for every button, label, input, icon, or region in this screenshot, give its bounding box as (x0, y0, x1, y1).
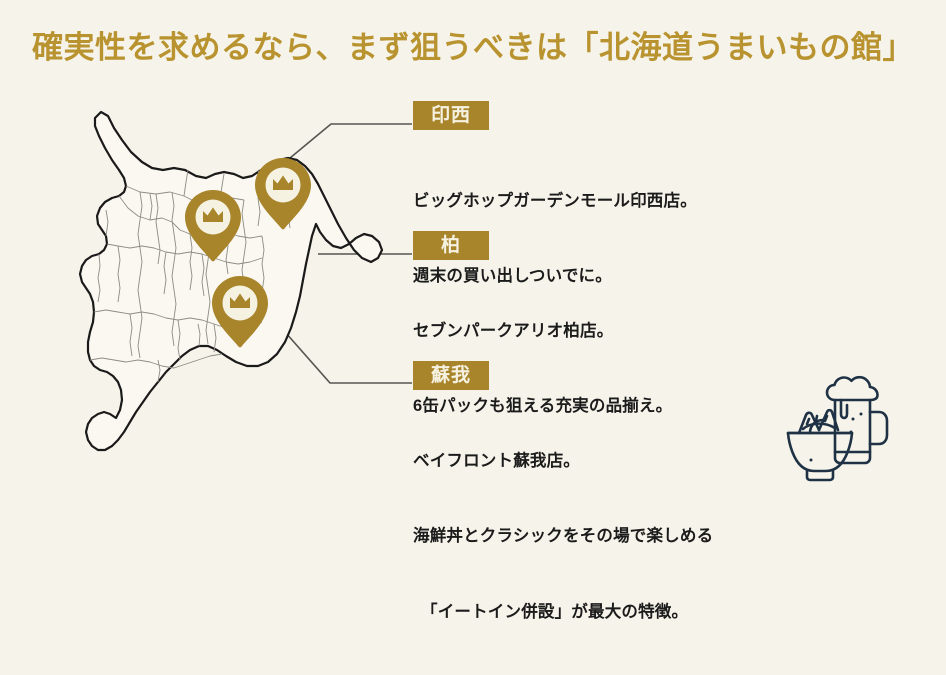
chiba-map (52, 96, 382, 496)
badge-kashiwa[interactable]: 柏 (413, 231, 489, 260)
desc-line: セブンパークアリオ柏店。 (413, 319, 672, 344)
shrimp-topping (816, 416, 817, 421)
bowl-foot (807, 471, 833, 480)
desc-line: 「イートイン併設」が最大の特徴。 (413, 600, 713, 625)
desc-line: ベイフロント蘇我店。 (413, 449, 713, 474)
shrimp-topping (825, 416, 827, 421)
shrimp-topping (807, 419, 809, 424)
beer-bubble (860, 413, 863, 416)
page-title: 確実性を求めるなら、まず狙うべきは「北海道うまいもの館」 (0, 22, 946, 67)
desc-line: ビッグホップガーデンモール印西店。 (413, 189, 697, 214)
beer-foam (827, 377, 878, 400)
store-item-soga: 蘇我 ベイフロント蘇我店。 海鮮丼とクラシックをその場で楽しめる 「イートイン併… (413, 361, 713, 675)
seafood-bowl-and-beer-mug-icon (785, 372, 910, 487)
desc-line: 海鮮丼とクラシックをその場で楽しめる (413, 524, 713, 549)
beer-foam-drip (841, 400, 847, 418)
beer-bubble (852, 418, 855, 421)
badge-soga[interactable]: 蘇我 (413, 361, 489, 390)
beer-mug-handle (870, 412, 887, 444)
bowl-dot (810, 459, 813, 462)
slide-root: 確実性を求めるなら、まず狙うべきは「北海道うまいもの館」 (0, 0, 946, 514)
badge-inzai[interactable]: 印西 (413, 101, 489, 130)
store-description-soga: ベイフロント蘇我店。 海鮮丼とクラシックをその場で楽しめる 「イートイン併設」が… (413, 399, 713, 675)
